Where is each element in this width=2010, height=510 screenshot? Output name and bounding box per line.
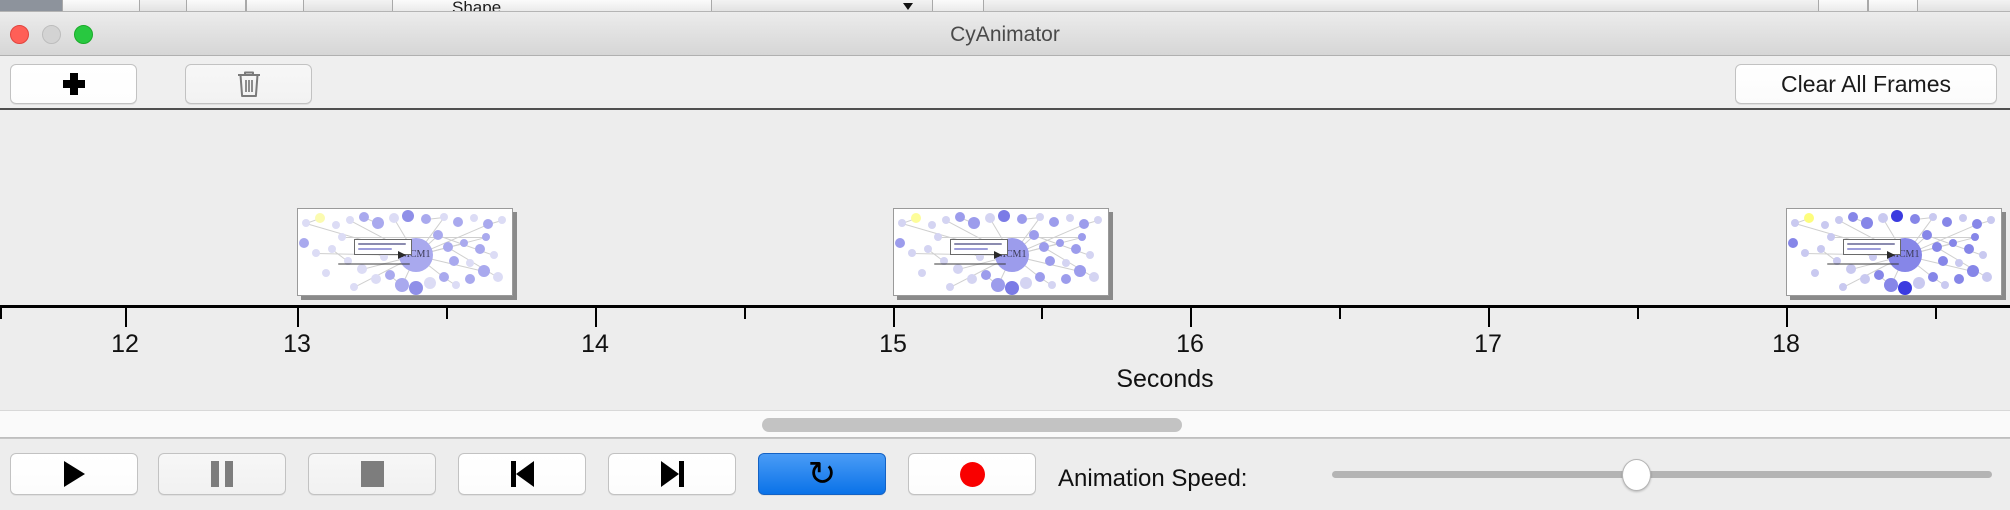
axis-tick-major <box>595 308 597 327</box>
slider-track <box>1332 471 1992 478</box>
network-tooltip-text <box>358 248 392 250</box>
network-node <box>991 278 1005 292</box>
axis-tick-major <box>1190 308 1192 327</box>
skip-start-button[interactable] <box>458 453 586 495</box>
axis-tick-label: 12 <box>111 330 139 359</box>
network-tooltip-text <box>1847 243 1895 245</box>
skip-end-button[interactable] <box>608 453 736 495</box>
network-node <box>490 251 498 259</box>
network-node <box>1972 219 1982 229</box>
network-thumbnail-canvas: MCM1 <box>894 209 1108 295</box>
network-node <box>1017 214 1027 224</box>
delete-frame-button[interactable] <box>185 64 312 104</box>
network-node <box>898 219 906 227</box>
network-node <box>924 245 932 253</box>
network-node <box>322 269 330 277</box>
network-node <box>443 242 453 252</box>
keyframe-thumbnail[interactable]: MCM1 <box>893 208 1109 296</box>
axis-tick-label: 18 <box>1772 330 1800 359</box>
network-node <box>433 230 443 240</box>
network-node <box>1827 233 1835 241</box>
record-icon <box>960 462 985 487</box>
network-node <box>493 272 503 282</box>
network-node <box>934 233 942 241</box>
network-node <box>1804 213 1814 223</box>
axis-tick-label: 15 <box>879 330 907 359</box>
network-node <box>1049 217 1059 227</box>
network-node <box>372 217 384 229</box>
network-node <box>424 277 436 289</box>
network-node <box>1039 242 1049 252</box>
network-node <box>1801 249 1809 257</box>
network-node <box>1910 214 1920 224</box>
trash-icon <box>236 69 262 99</box>
timeline-panel[interactable]: MCM1MCM1MCM1 <box>0 110 2010 305</box>
network-tooltip-text <box>954 243 1002 245</box>
network-node <box>1971 233 1979 241</box>
network-node <box>1839 283 1847 291</box>
network-tooltip-pointer-icon <box>398 251 406 259</box>
network-node <box>1913 277 1925 289</box>
network-caption-text <box>1827 263 1899 265</box>
network-node <box>1874 270 1884 280</box>
network-node <box>466 259 474 267</box>
network-node <box>1817 245 1825 253</box>
network-node <box>402 210 414 222</box>
network-node <box>1035 272 1045 282</box>
axis-title-label: Seconds <box>1116 365 1213 394</box>
network-node <box>1964 244 1974 254</box>
network-node <box>953 264 963 274</box>
network-node <box>346 216 354 224</box>
axis-tick-minor <box>744 308 746 319</box>
network-node <box>1005 281 1019 295</box>
network-node <box>439 272 449 282</box>
background-window-strip: Shape <box>0 0 2010 12</box>
axis-tick-major <box>125 308 127 327</box>
slider-thumb[interactable] <box>1622 459 1651 491</box>
network-node <box>955 212 965 222</box>
network-node <box>1848 212 1858 222</box>
network-node <box>1788 238 1798 248</box>
network-node <box>498 216 506 224</box>
timeline-scrollbar-thumb[interactable] <box>762 418 1182 432</box>
axis-tick-minor <box>1339 308 1341 319</box>
axis-tick-major <box>1488 308 1490 327</box>
bg-tab <box>62 0 140 12</box>
network-node <box>371 274 381 284</box>
plus-icon <box>63 73 85 95</box>
network-node <box>1967 265 1979 277</box>
network-tooltip-text <box>358 243 406 245</box>
network-thumbnail-canvas: MCM1 <box>298 209 512 295</box>
network-tooltip-text <box>1847 248 1881 250</box>
network-node <box>421 214 431 224</box>
network-node <box>299 238 309 248</box>
bg-tab <box>392 0 712 12</box>
network-node <box>395 278 409 292</box>
axis-tick-major <box>297 308 299 327</box>
axis-tick-major <box>893 308 895 327</box>
axis-tick-minor <box>1041 308 1043 319</box>
network-node <box>332 221 340 229</box>
network-node <box>1929 213 1937 221</box>
bg-tab-dark <box>0 0 62 12</box>
network-node <box>1861 217 1873 229</box>
network-node <box>1954 274 1964 284</box>
network-node <box>1020 277 1032 289</box>
stop-icon <box>361 461 384 487</box>
skip-back-icon <box>511 461 534 487</box>
bg-tab <box>1818 0 1868 12</box>
axis-tick-label: 14 <box>581 330 609 359</box>
keyframe-thumbnail[interactable]: MCM1 <box>1786 208 2002 296</box>
network-node <box>1987 216 1995 224</box>
network-node <box>985 213 995 223</box>
network-node <box>1045 256 1055 266</box>
network-node <box>928 221 936 229</box>
loop-icon: ↻ <box>808 457 837 491</box>
network-node <box>385 270 395 280</box>
axis-tick-minor <box>446 308 448 319</box>
record-button[interactable] <box>908 453 1036 495</box>
skip-forward-icon <box>661 461 684 487</box>
network-node <box>1942 217 1952 227</box>
network-tooltip-text <box>954 248 988 250</box>
network-node <box>1066 214 1074 222</box>
network-node <box>1079 219 1089 229</box>
axis-tick-major <box>1786 308 1788 327</box>
play-icon <box>64 461 85 487</box>
timeline-axis: Seconds 12131415161718 <box>0 305 2010 410</box>
network-caption-text <box>934 263 1006 265</box>
network-node <box>1074 265 1086 277</box>
network-node <box>475 244 485 254</box>
title-bar: CyAnimator <box>0 12 2010 56</box>
pause-icon <box>211 461 233 487</box>
network-node <box>1029 230 1039 240</box>
play-button[interactable] <box>10 453 138 495</box>
network-node <box>1898 281 1912 295</box>
pause-button[interactable] <box>158 453 286 495</box>
network-node <box>449 256 459 266</box>
network-node <box>1982 272 1992 282</box>
network-node <box>967 274 977 284</box>
axis-tick-minor <box>0 308 2 319</box>
network-node <box>918 269 926 277</box>
network-node <box>453 217 463 227</box>
network-node <box>1811 269 1819 277</box>
network-tooltip-pointer-icon <box>1887 251 1895 259</box>
network-node <box>1791 219 1799 227</box>
network-node <box>1089 272 1099 282</box>
network-node <box>1078 233 1086 241</box>
axis-tick-minor <box>1637 308 1639 319</box>
network-node <box>440 213 448 221</box>
network-node <box>1959 214 1967 222</box>
network-node <box>1949 239 1957 247</box>
playback-toolbar: ↻ Animation Speed: <box>0 438 2010 510</box>
network-node <box>460 239 468 247</box>
network-node <box>482 233 490 241</box>
network-node <box>1036 213 1044 221</box>
network-node <box>357 264 367 274</box>
timeline-scrollbar[interactable] <box>0 410 2010 438</box>
bg-tab <box>932 0 984 12</box>
axis-tick-label: 17 <box>1474 330 1502 359</box>
network-node <box>1071 244 1081 254</box>
network-node <box>465 274 475 284</box>
network-node <box>1928 272 1938 282</box>
network-node <box>452 281 460 289</box>
bg-tab <box>186 0 246 12</box>
network-node <box>1846 264 1856 274</box>
network-node <box>968 217 980 229</box>
animation-speed-label: Animation Speed: <box>1058 465 1247 493</box>
network-node <box>895 238 905 248</box>
network-node <box>312 249 320 257</box>
axis-tick-minor <box>1935 308 1937 319</box>
network-node <box>1048 281 1056 289</box>
network-node <box>350 283 358 291</box>
axis-line <box>0 305 2010 308</box>
network-node <box>483 219 493 229</box>
loop-button[interactable]: ↻ <box>758 453 886 495</box>
network-node <box>1056 239 1064 247</box>
network-node <box>1979 251 1987 259</box>
network-tooltip-pointer-icon <box>994 251 1002 259</box>
network-node <box>946 283 954 291</box>
network-node <box>1891 210 1903 222</box>
bg-tab <box>1868 0 1918 12</box>
keyframe-thumbnail[interactable]: MCM1 <box>297 208 513 296</box>
network-node <box>409 281 423 295</box>
window-title: CyAnimator <box>0 23 2010 47</box>
network-node <box>1821 221 1829 229</box>
network-node <box>1938 256 1948 266</box>
network-node <box>911 213 921 223</box>
network-node <box>359 212 369 222</box>
network-node <box>302 219 310 227</box>
axis-tick-label: 13 <box>283 330 311 359</box>
network-node <box>998 210 1010 222</box>
bg-caret-icon <box>903 3 913 10</box>
network-node <box>389 213 399 223</box>
network-node <box>1062 259 1070 267</box>
network-node <box>1086 251 1094 259</box>
network-node <box>1941 281 1949 289</box>
network-node <box>478 265 490 277</box>
network-caption-text <box>338 263 410 265</box>
clear-all-frames-label: Clear All Frames <box>1781 71 1951 98</box>
network-node <box>328 245 336 253</box>
network-node <box>1835 216 1843 224</box>
add-frame-button[interactable] <box>10 64 137 104</box>
network-node <box>1932 242 1942 252</box>
network-node <box>470 214 478 222</box>
network-node <box>1061 274 1071 284</box>
animation-speed-slider[interactable] <box>1332 453 1992 495</box>
network-node <box>315 213 325 223</box>
axis-tick-label: 16 <box>1176 330 1204 359</box>
bg-tab <box>246 0 304 12</box>
network-node <box>1884 278 1898 292</box>
stop-button[interactable] <box>308 453 436 495</box>
network-node <box>338 233 346 241</box>
network-thumbnail-canvas: MCM1 <box>1787 209 2001 295</box>
network-node <box>1922 230 1932 240</box>
network-node <box>908 249 916 257</box>
network-node <box>1878 213 1888 223</box>
clear-all-frames-button[interactable]: Clear All Frames <box>1735 64 1997 104</box>
network-node <box>981 270 991 280</box>
network-node <box>1094 216 1102 224</box>
bg-window-label: Shape <box>452 0 501 12</box>
network-node <box>1860 274 1870 284</box>
network-node <box>1955 259 1963 267</box>
toolbar: Clear All Frames <box>0 56 2010 110</box>
network-node <box>942 216 950 224</box>
